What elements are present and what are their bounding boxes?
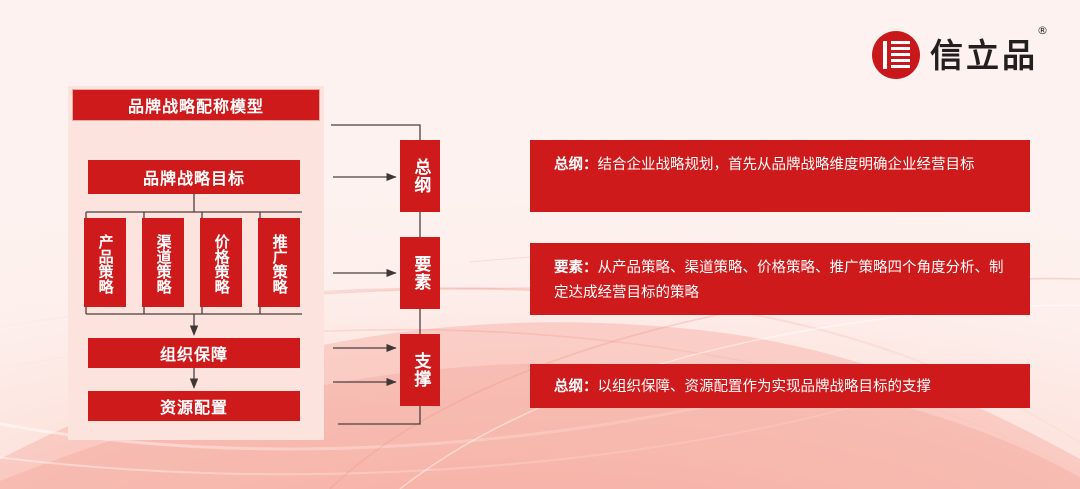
- resource-allocation-box: 资源配置: [88, 391, 300, 421]
- organization-guarantee-box: 组织保障: [88, 338, 300, 368]
- registered-trademark-icon: ®: [1037, 25, 1051, 36]
- description-lead: 总纲：: [554, 157, 598, 173]
- description-body: 结合企业战略规划，首先从品牌战略维度明确企业经营目标: [598, 157, 975, 173]
- slide-canvas: 品牌战略配称模型 品牌战略目标 产品策略 渠道策略 价格策略 推广策略 组织保障…: [0, 0, 1080, 489]
- strategy-box-promotion: 推广策略: [258, 218, 300, 307]
- brand-logo: 信立品 ®: [872, 31, 1038, 79]
- description-lead: 要素：: [554, 260, 598, 276]
- brand-strategy-goal-box: 品牌战略目标: [88, 160, 300, 194]
- description-panel-elements: 要素：从产品策略、渠道策略、价格策略、推广策略四个角度分析、制定达成经营目标的策…: [530, 243, 1030, 315]
- model-title: 品牌战略配称模型: [72, 89, 320, 121]
- description-body: 以组织保障、资源配置作为实现品牌战略目标的支撑: [598, 379, 932, 395]
- pillar-outline: 总纲: [400, 140, 440, 212]
- description-panel-support: 总纲：以组织保障、资源配置作为实现品牌战略目标的支撑: [530, 364, 1030, 408]
- logo-wordmark-text: 信立品: [930, 36, 1038, 75]
- description-body: 从产品策略、渠道策略、价格策略、推广策略四个角度分析、制定达成经营目标的策略: [554, 260, 1004, 301]
- logo-wordmark: 信立品 ®: [930, 39, 1038, 72]
- xin-li-pin-logo-icon: [872, 31, 920, 79]
- strategy-box-channel: 渠道策略: [142, 218, 184, 307]
- strategy-box-product: 产品策略: [84, 218, 126, 307]
- description-panel-outline: 总纲：结合企业战略规划，首先从品牌战略维度明确企业经营目标: [530, 140, 1030, 212]
- description-lead: 总纲：: [554, 379, 598, 395]
- pillar-support: 支撑: [400, 334, 440, 406]
- pillar-elements: 要素: [400, 237, 440, 309]
- strategy-box-price: 价格策略: [200, 218, 242, 307]
